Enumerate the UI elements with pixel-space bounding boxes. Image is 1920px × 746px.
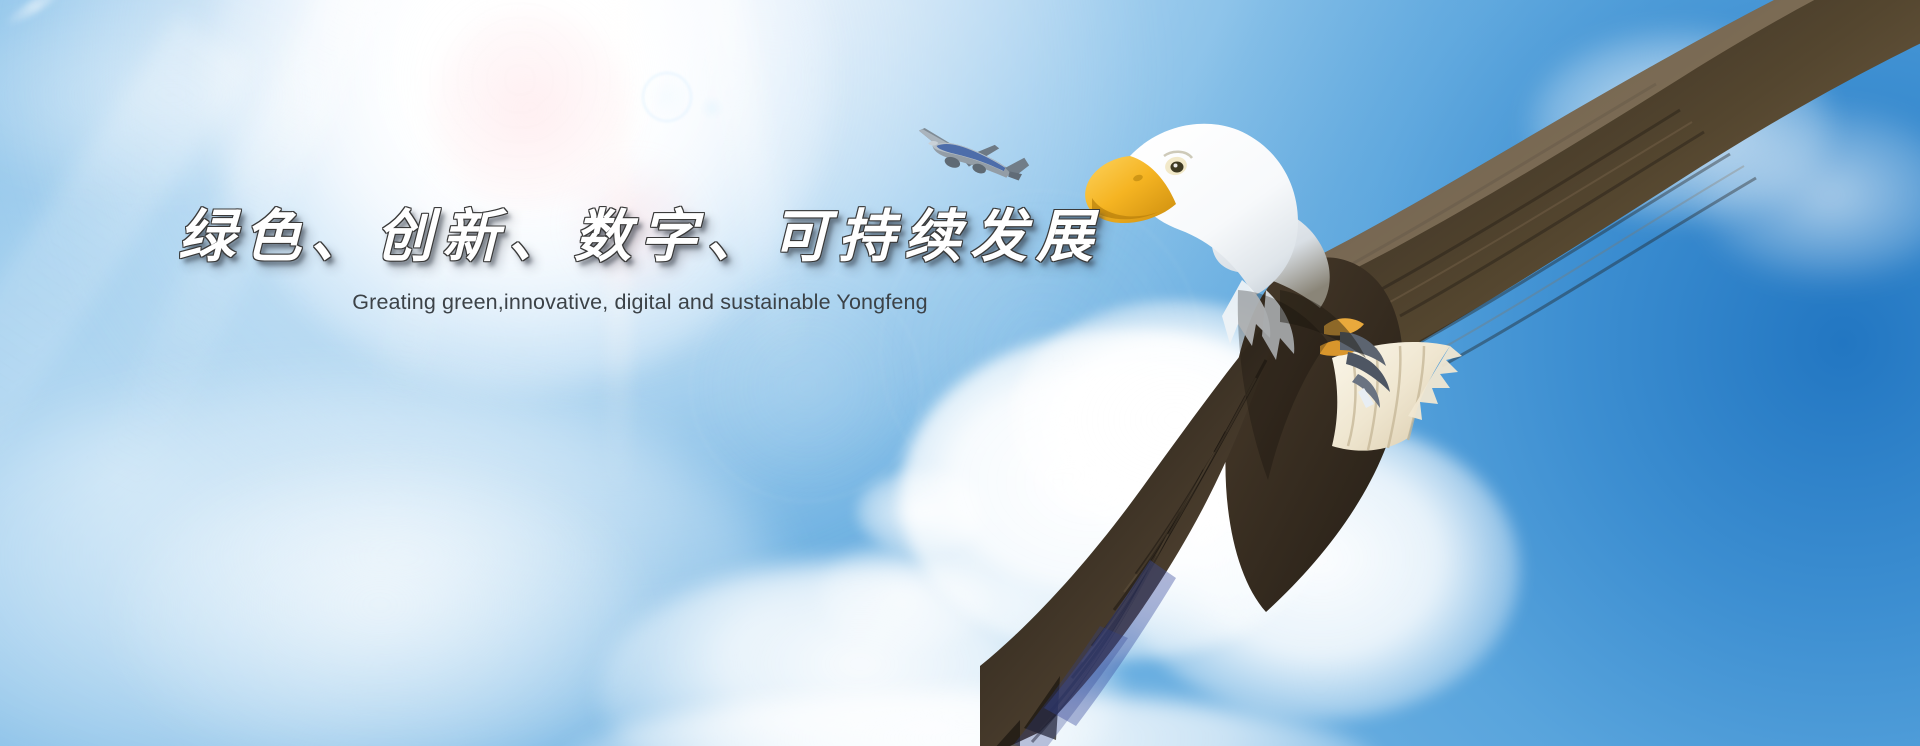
page-subtitle: Greating green,innovative, digital and s… bbox=[352, 290, 927, 315]
lens-flare-ring bbox=[642, 72, 692, 122]
headline-container: 绿色、创新、数字、可持续发展 bbox=[0, 206, 1280, 268]
banner-hero: 绿色、创新、数字、可持续发展 Greating green,innovative… bbox=[0, 0, 1920, 746]
subline-container: Greating green,innovative, digital and s… bbox=[0, 290, 1280, 315]
bald-eagle bbox=[980, 0, 1920, 746]
lens-flare-dot bbox=[700, 96, 724, 120]
page-title: 绿色、创新、数字、可持续发展 bbox=[178, 206, 1102, 268]
